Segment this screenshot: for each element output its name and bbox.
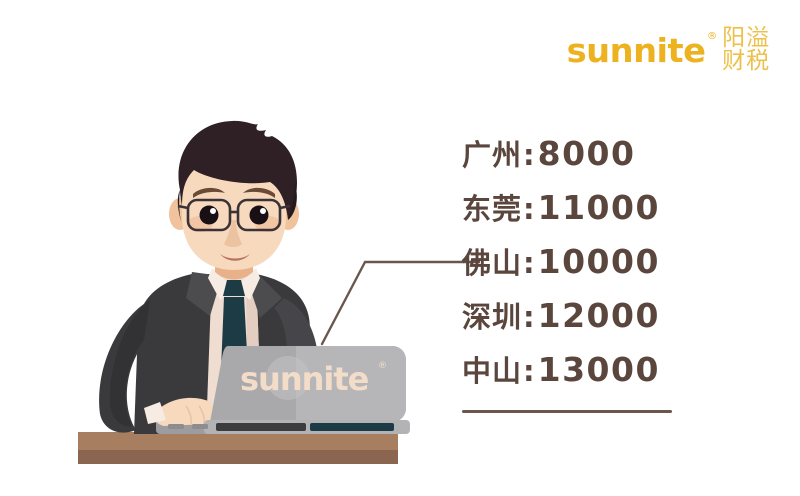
- price-row: 佛山 : 10000: [462, 240, 722, 294]
- laptop-logo-trademark-icon: ®: [378, 361, 387, 371]
- eye-left-highlight: [210, 208, 216, 214]
- desk-edge: [78, 450, 398, 464]
- price-amount: 8000: [538, 134, 636, 173]
- price-amount: 10000: [538, 242, 660, 281]
- price-row: 深圳 : 12000: [462, 294, 722, 348]
- trackpad-key-2: [192, 424, 208, 429]
- price-list-underline: [462, 410, 672, 413]
- price-amount: 11000: [538, 188, 660, 227]
- price-row: 中山 : 13000: [462, 348, 722, 402]
- price-separator: :: [522, 354, 536, 388]
- price-amount: 12000: [538, 296, 660, 335]
- eye-right: [250, 206, 269, 225]
- registered-trademark-icon: ®: [707, 32, 717, 42]
- price-separator: :: [522, 138, 536, 172]
- price-city-label: 深圳: [462, 294, 522, 336]
- price-city-label: 佛山: [462, 240, 522, 282]
- eye-left: [200, 206, 219, 225]
- desk-top: [78, 432, 398, 450]
- price-city-label: 广州: [462, 132, 522, 174]
- eye-right-highlight: [260, 208, 266, 214]
- brand-chinese-name: 阳溢财税: [722, 27, 784, 73]
- brand-logo: sunnite ® 阳溢财税: [568, 28, 784, 72]
- laptop-screen-strip: [216, 423, 306, 431]
- price-separator: :: [522, 192, 536, 226]
- price-row: 广州 : 8000: [462, 132, 722, 186]
- trackpad-key-1: [168, 424, 184, 429]
- price-city-label: 中山: [462, 348, 522, 390]
- price-row: 东莞 : 11000: [462, 186, 722, 240]
- brand-wordmark-text: sunnite ®: [567, 34, 706, 67]
- businessman-illustration: sunnite ®: [60, 120, 420, 496]
- laptop-screen-strip-accent: [310, 423, 394, 431]
- price-separator: :: [522, 246, 536, 280]
- city-price-list: 广州 : 8000 东莞 : 11000 佛山 : 10000 深圳 : 120…: [462, 132, 722, 402]
- price-separator: :: [522, 300, 536, 334]
- brand-wordmark-label: sunnite: [567, 31, 706, 70]
- laptop-logo-text: sunnite: [240, 360, 369, 398]
- slide-canvas: sunnite ® 阳溢财税: [0, 0, 800, 496]
- price-city-label: 东莞: [462, 186, 522, 228]
- price-amount: 13000: [538, 350, 660, 389]
